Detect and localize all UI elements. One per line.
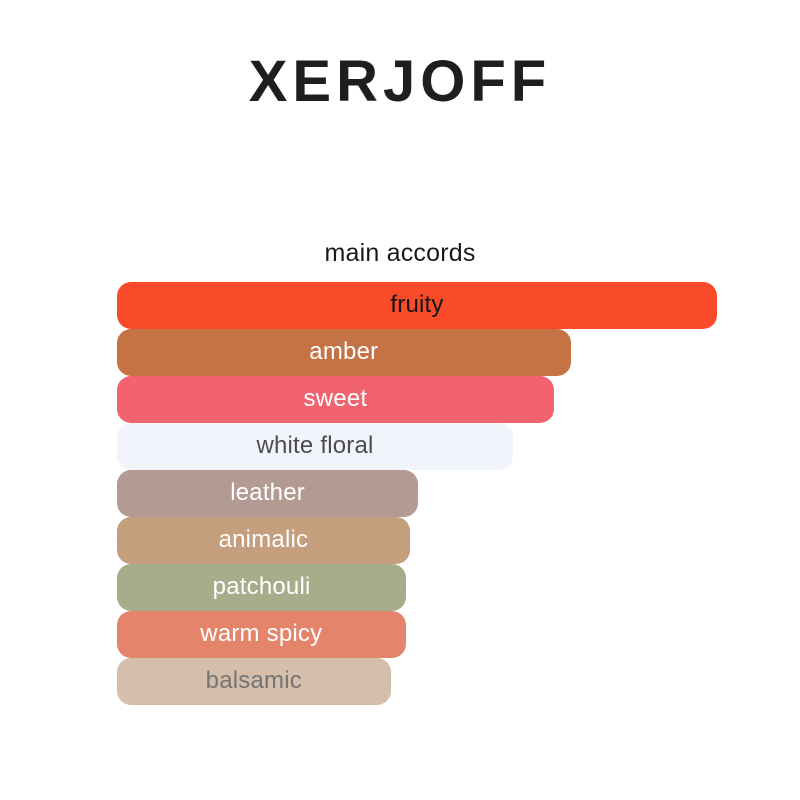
accord-bar-patchouli[interactable]: patchouli (117, 564, 406, 611)
accord-row: amber (117, 329, 717, 376)
accord-row: balsamic (117, 658, 717, 705)
accord-row: animalic (117, 517, 717, 564)
accord-row: white floral (117, 423, 717, 470)
accord-row: fruity (117, 282, 717, 329)
main-accords-section: main accords fruityambersweetwhite flora… (0, 236, 800, 705)
accord-bar-amber[interactable]: amber (117, 329, 571, 376)
accord-label: white floral (256, 434, 373, 460)
accord-bar-leather[interactable]: leather (117, 470, 418, 517)
accord-row: leather (117, 470, 717, 517)
accord-bar-balsamic[interactable]: balsamic (117, 658, 391, 705)
accord-bar-animalic[interactable]: animalic (117, 517, 410, 564)
accord-label: warm spicy (200, 622, 322, 648)
perfume-accords-page: XERJOFF main accords fruityambersweetwhi… (0, 0, 800, 800)
accord-label: amber (309, 340, 378, 366)
accord-bar-white-floral[interactable]: white floral (117, 423, 513, 470)
accord-label: fruity (390, 293, 443, 319)
accord-bar-sweet[interactable]: sweet (117, 376, 554, 423)
accord-label: leather (230, 481, 305, 507)
accord-row: patchouli (117, 564, 717, 611)
accord-bar-fruity[interactable]: fruity (117, 282, 717, 329)
accord-label: animalic (219, 528, 309, 554)
main-accords-title: main accords (0, 236, 800, 282)
accord-label: patchouli (213, 575, 311, 601)
accord-label: sweet (304, 387, 368, 413)
brand-header: XERJOFF (0, 0, 800, 220)
accord-row: sweet (117, 376, 717, 423)
xerjoff-logo: XERJOFF (249, 53, 552, 111)
accords-bar-chart: fruityambersweetwhite floralleatheranima… (117, 282, 717, 705)
accord-bar-warm-spicy[interactable]: warm spicy (117, 611, 406, 658)
accord-label: balsamic (206, 669, 302, 695)
accord-row: warm spicy (117, 611, 717, 658)
